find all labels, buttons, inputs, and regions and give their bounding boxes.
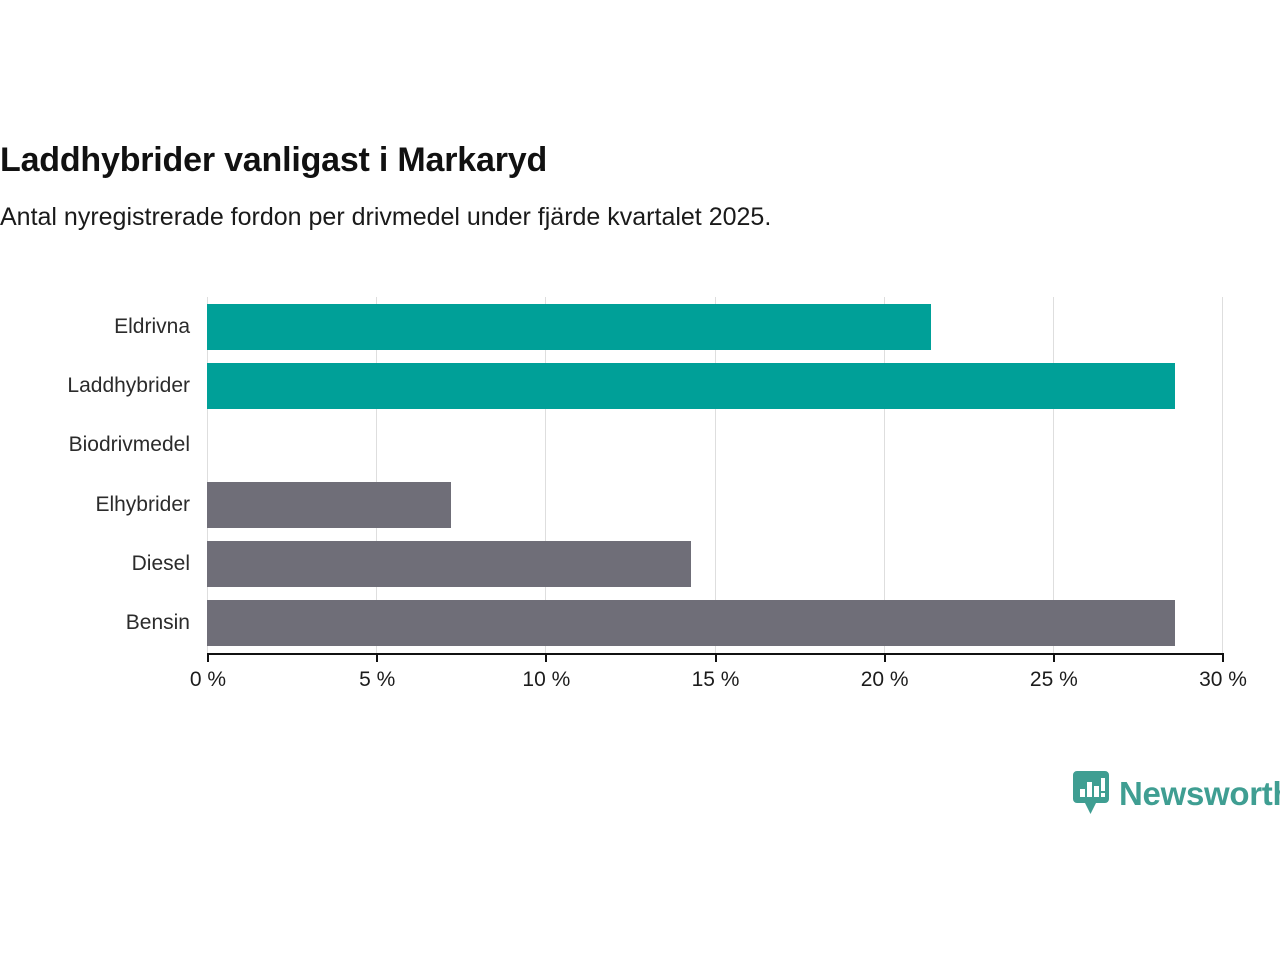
category-label-eldrivna: Eldrivna xyxy=(0,304,190,350)
bar-row xyxy=(207,482,1222,528)
bar-row xyxy=(207,363,1222,409)
category-label-laddhybrider: Laddhybrider xyxy=(0,363,190,409)
chart-header: Laddhybrider vanligast i Markaryd Antal … xyxy=(0,140,1280,232)
bar-diesel[interactable] xyxy=(207,541,691,587)
bar-row xyxy=(207,304,1222,350)
x-tick xyxy=(1222,653,1224,662)
x-tick-label: 10 % xyxy=(522,668,570,692)
chart-subtitle: Antal nyregistrerade fordon per drivmede… xyxy=(0,180,1280,232)
x-tick-label: 20 % xyxy=(861,668,909,692)
category-axis-labels: EldrivnaLaddhybriderBiodrivmedelElhybrid… xyxy=(0,297,190,653)
category-label-diesel: Diesel xyxy=(0,541,190,587)
bar-row xyxy=(207,422,1222,468)
category-label-elhybrider: Elhybrider xyxy=(0,482,190,528)
x-tick-label: 5 % xyxy=(359,668,395,692)
bar-bensin[interactable] xyxy=(207,600,1175,646)
x-tick xyxy=(545,653,547,662)
x-tick-label: 25 % xyxy=(1030,668,1078,692)
chart-page: Laddhybrider vanligast i Markaryd Antal … xyxy=(0,0,1280,960)
page-title: Laddhybrider vanligast i Markaryd xyxy=(0,140,1280,180)
x-tick xyxy=(715,653,717,662)
bar-row xyxy=(207,600,1222,646)
newsworthy-logo-text: Newsworthy xyxy=(1119,777,1280,810)
newsworthy-logo: Newsworthy xyxy=(1072,770,1280,816)
x-tick xyxy=(207,653,209,662)
x-tick xyxy=(376,653,378,662)
x-tick xyxy=(884,653,886,662)
plot-area xyxy=(207,297,1222,653)
x-tick-label: 0 % xyxy=(190,668,226,692)
category-label-biodrivmedel: Biodrivmedel xyxy=(0,422,190,468)
newsworthy-bars-bubble-icon xyxy=(1072,770,1110,816)
bar-series xyxy=(207,297,1222,653)
bar-row xyxy=(207,541,1222,587)
x-tick-label: 30 % xyxy=(1199,668,1247,692)
x-tick-label: 15 % xyxy=(692,668,740,692)
bar-eldrivna[interactable] xyxy=(207,304,931,350)
category-label-bensin: Bensin xyxy=(0,600,190,646)
x-tick xyxy=(1053,653,1055,662)
bar-chart: EldrivnaLaddhybriderBiodrivmedelElhybrid… xyxy=(0,290,1280,710)
bar-elhybrider[interactable] xyxy=(207,482,451,528)
gridline xyxy=(1222,297,1223,653)
bar-laddhybrider[interactable] xyxy=(207,363,1175,409)
